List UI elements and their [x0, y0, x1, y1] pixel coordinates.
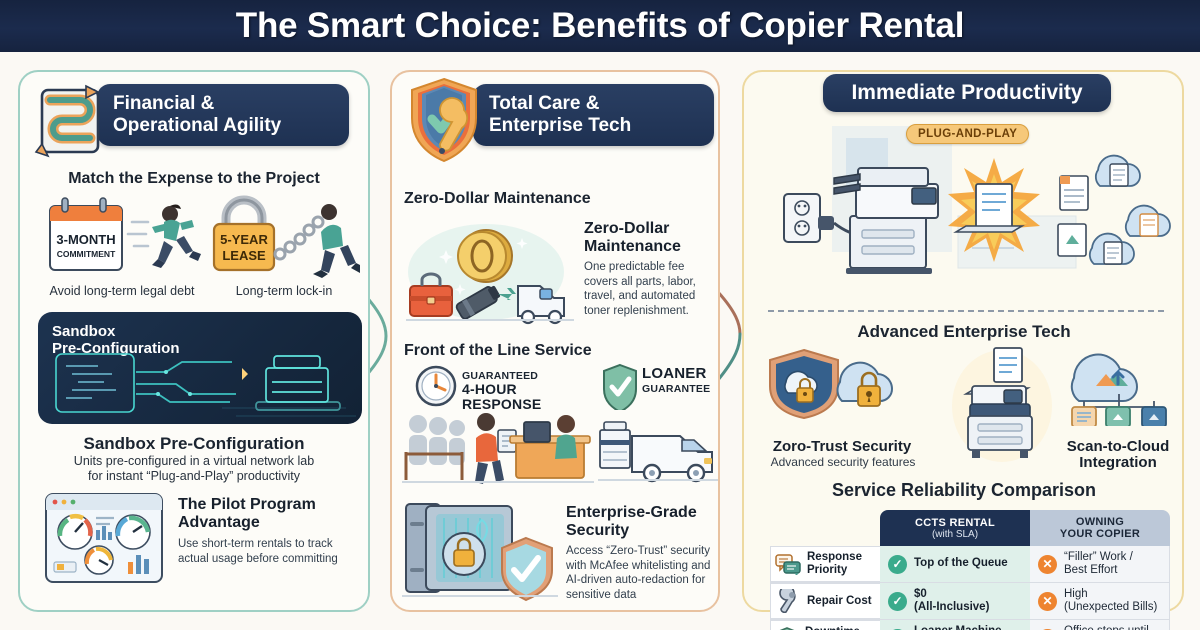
pill-title: Immediate Productivity — [851, 81, 1082, 105]
header-pill-financial: Financial & Operational Agility — [97, 84, 349, 146]
header-cell-blank — [770, 510, 880, 546]
svg-text:3-MONTH: 3-MONTH — [56, 232, 115, 247]
title-bar: The Smart Choice: Benefits of Copier Ren… — [0, 0, 1200, 52]
table-row: Response Priority ✓ Top of the Queue ✕ “… — [770, 546, 1170, 583]
header-owning-subtitle: YOUR COPIER — [1060, 528, 1140, 540]
delivery-van-copier-icon — [596, 408, 720, 488]
zero-dollar-body: One predictable fee covers all parts, la… — [584, 260, 710, 319]
left-item-a-caption: Avoid long-term legal debt — [26, 284, 218, 298]
feature-scan-cloud-title-line2: Integration — [1048, 454, 1188, 471]
table-row: Downtime Protection ✓ Loaner Machine Pro… — [770, 620, 1170, 630]
zero-dollar-title-line1: Zero-Dollar — [584, 220, 710, 238]
owning-line1: “Filler” Work / — [1064, 551, 1133, 563]
check-icon: ✓ — [888, 555, 907, 574]
owning-cell-text: Office stops until parts arrive — [1064, 625, 1149, 630]
owning-cell: ✕ High (Unexpected Bills) — [1030, 583, 1170, 619]
rental-cell: ✓ $0 (All-Inclusive) — [880, 583, 1030, 619]
table-row: Repair Cost ✓ $0 (All-Inclusive) ✕ High … — [770, 583, 1170, 620]
rental-cell-text: Top of the Queue — [914, 557, 1008, 570]
hero-baseline-divider — [768, 310, 1164, 312]
svg-text:5-YEAR: 5-YEAR — [220, 232, 268, 247]
rental-cell: ✓ Loaner Machine Provided — [880, 620, 1030, 630]
zero-dollar-title-line2: Maintenance — [584, 238, 710, 256]
sandbox-title: Sandbox Pre-Configuration — [26, 434, 362, 454]
cloud-upload-arrows-icon — [1062, 348, 1178, 426]
zero-dollar-text: Zero-Dollar Maintenance One predictable … — [584, 220, 710, 319]
rental-cell-text: Loaner Machine Provided — [914, 625, 1002, 630]
enterprise-security-text: Enterprise-Grade Security Access “Zero-T… — [566, 504, 712, 603]
pilot-title-line1: The Pilot Program — [178, 496, 358, 514]
rental-line1: Loaner Machine — [914, 625, 1002, 630]
service-desk-queue-icon — [400, 404, 596, 490]
header-owning-title: OWNING — [1076, 516, 1124, 528]
comparison-table-heading: Service Reliability Comparison — [752, 480, 1176, 501]
code-terminal-to-copier-icon — [46, 346, 362, 422]
cross-icon: ✕ — [1038, 592, 1057, 611]
header-ccts-subtitle: (with SLA) — [932, 529, 978, 540]
copier-scanning-icon — [950, 344, 1054, 466]
header-pill-total-care: Total Care & Enterprise Tech — [473, 84, 714, 146]
row-label-cell: Response Priority — [770, 546, 880, 582]
comparison-table-header-row: CCTS RENTAL (with SLA) OWNING YOUR COPIE… — [770, 510, 1170, 546]
infographic-page: The Smart Choice: Benefits of Copier Ren… — [0, 0, 1200, 630]
pill-title-line1: Financial & — [113, 93, 281, 115]
row-label-text: Repair Cost — [807, 595, 872, 608]
header-ccts-title: CCTS RENTAL — [915, 517, 995, 529]
flexible-ribbon-icon — [32, 82, 110, 160]
row-label-line1: Downtime — [805, 626, 860, 630]
pill-title-line2: Operational Agility — [113, 115, 281, 137]
owning-line2: Best Effort — [1064, 564, 1117, 576]
cross-icon: ✕ — [1038, 555, 1057, 574]
rental-cell: ✓ Top of the Queue — [880, 546, 1030, 582]
left-item-b-caption: Long-term lock-in — [204, 284, 364, 298]
check-icon: ✓ — [888, 592, 907, 611]
plug-and-play-tag: PLUG-AND-PLAY — [906, 124, 1029, 144]
copier-plugged-in-burst-documents-clouds-icon — [762, 120, 1174, 310]
shield-check-icon — [600, 362, 640, 410]
loaner-line2: GUARANTEE — [642, 383, 722, 395]
pilot-title-line2: Advantage — [178, 514, 358, 532]
row-label-cell: Repair Cost — [770, 583, 880, 619]
pilot-program-text: The Pilot Program Advantage Use short-te… — [178, 496, 358, 566]
pill-title-line2: Enterprise Tech — [489, 115, 631, 137]
calendar-runner-icon: 3-MONTH COMMITMENT — [42, 194, 202, 280]
pilot-body: Use short-term rentals to track actual u… — [178, 537, 358, 566]
clock-icon — [414, 364, 458, 408]
security-body: Access “Zero-Trust” security with McAfee… — [566, 544, 712, 603]
feature-zero-trust-subtitle: Advanced security features — [748, 455, 938, 469]
sandbox-preconfiguration-card: Sandbox Pre-Configuration — [38, 312, 362, 424]
chat-bubbles-icon — [775, 553, 801, 575]
header-pill-immediate-productivity: Immediate Productivity — [823, 74, 1111, 112]
row-label-line2: Priority — [807, 564, 847, 576]
mid-section1-heading: Zero-Dollar Maintenance — [404, 190, 704, 208]
shield-cloud-locks-icon — [762, 348, 924, 420]
security-title-line2: Security — [566, 522, 712, 540]
columns-area: Financial & Operational Agility Match th… — [0, 52, 1200, 630]
owning-cell-text: High (Unexpected Bills) — [1064, 588, 1157, 614]
svg-text:LEASE: LEASE — [222, 248, 266, 263]
row-label-line1: Repair Cost — [807, 595, 872, 607]
padlock-chained-person-icon: 5-YEAR LEASE — [208, 192, 360, 282]
wrench-icon — [775, 589, 801, 613]
owning-cell-text: “Filler” Work / Best Effort — [1064, 551, 1133, 577]
sandbox-body-line1: Units pre-configured in a virtual networ… — [26, 454, 362, 468]
safe-vault-lock-shield-icon — [400, 496, 560, 608]
feature-scan-cloud-title-line1: Scan-to-Cloud — [1048, 438, 1188, 455]
rental-line2: (All-Inclusive) — [914, 601, 989, 613]
sandbox-label-line1: Sandbox — [52, 323, 180, 340]
owning-cell: ✕ “Filler” Work / Best Effort — [1030, 546, 1170, 582]
row-label-text: Response Priority — [807, 551, 862, 577]
row-label-line1: Response — [807, 551, 862, 563]
svg-text:COMMITMENT: COMMITMENT — [57, 249, 116, 259]
security-title-line1: Enterprise-Grade — [566, 504, 712, 522]
mid-section2-heading: Front of the Line Service — [404, 342, 704, 360]
loaner-guarantee-text: LOANER GUARANTEE — [642, 366, 722, 395]
dashboard-gauges-icon — [44, 492, 164, 584]
sandbox-body-line2: for instant “Plug-and-Play” productivity — [26, 469, 362, 483]
shield-check-icon — [775, 626, 799, 630]
rental-line1: $0 — [914, 588, 927, 600]
row-label-text: Downtime Protection — [805, 626, 862, 630]
shield-check-wrench-icon — [398, 74, 490, 166]
loaner-line1: LOANER — [642, 366, 722, 383]
owning-line1: High — [1064, 588, 1088, 600]
left-section1-heading: Match the Expense to the Project — [26, 170, 362, 188]
row-label-cell: Downtime Protection — [770, 620, 880, 630]
comparison-table: CCTS RENTAL (with SLA) OWNING YOUR COPIE… — [770, 510, 1170, 630]
coin-toolbox-toner-van-icon — [398, 210, 580, 328]
pill-title-line1: Total Care & — [489, 93, 631, 115]
header-cell-ccts-rental: CCTS RENTAL (with SLA) — [880, 510, 1030, 546]
page-title: The Smart Choice: Benefits of Copier Ren… — [236, 6, 964, 46]
owning-line2: (Unexpected Bills) — [1064, 601, 1157, 613]
right-section2-heading: Advanced Enterprise Tech — [752, 322, 1176, 342]
rental-line1: Top of the Queue — [914, 557, 1008, 569]
rental-cell-text: $0 (All-Inclusive) — [914, 588, 989, 614]
owning-line1: Office stops until — [1064, 625, 1149, 630]
feature-zero-trust-title: Zoro-Trust Security — [752, 438, 932, 455]
owning-cell: ✕ Office stops until parts arrive — [1030, 620, 1170, 630]
header-cell-owning: OWNING YOUR COPIER — [1030, 510, 1170, 546]
